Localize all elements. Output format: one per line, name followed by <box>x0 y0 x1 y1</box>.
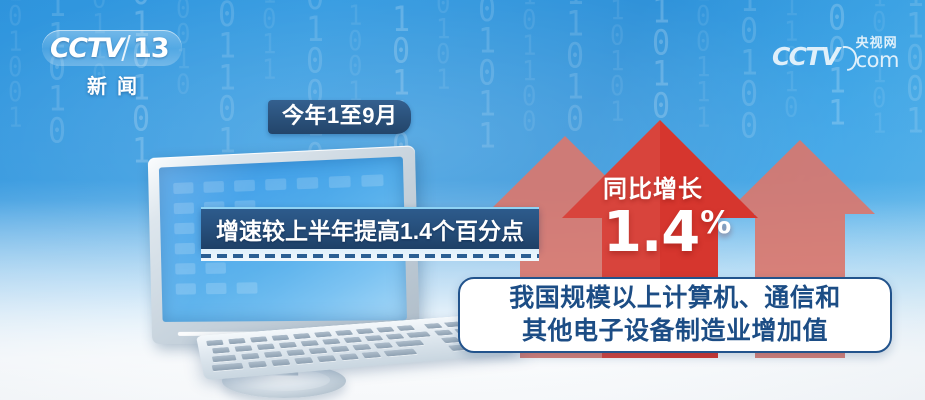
date-range-text: 今年1至9月 <box>282 104 397 128</box>
cctv13-logo-pill: CCTV 13 <box>42 30 182 66</box>
caption-box: 我国规模以上计算机、通信和 其他电子设备制造业增加值 <box>458 277 892 353</box>
cctv-wordmark: CCTV <box>42 33 123 64</box>
growth-value: 1.4 <box>603 206 699 261</box>
caption-line-2: 其他电子设备制造业增加值 <box>522 315 828 348</box>
watermark-domain: com <box>856 50 899 71</box>
headline-dashed-underline <box>201 249 539 261</box>
watermark-brand: CCTV <box>772 42 839 71</box>
growth-unit: % <box>700 208 731 239</box>
growth-figure: 同比增长 1.4 % <box>603 176 753 260</box>
channel-subtitle: 新闻 <box>42 70 182 99</box>
channel-number: 13 <box>133 33 169 64</box>
caption-line-1: 我国规模以上计算机、通信和 <box>509 282 841 315</box>
broadcast-graphic: 1 0 1 0 0 1 0 1 1 0 1 0 1 0 0 1 1 0 0 1 … <box>0 0 925 400</box>
headline-text: 增速较上半年提高1.4个百分点 <box>216 212 524 246</box>
cctv13-logo: CCTV 13 新闻 <box>42 30 182 92</box>
cctv-com-watermark: CCTV 央视网 com <box>772 36 899 71</box>
watermark-right-block: 央视网 com <box>856 36 899 71</box>
dash-strip <box>201 254 539 258</box>
date-range-banner: 今年1至9月 <box>268 100 411 134</box>
headline-banner: 增速较上半年提高1.4个百分点 <box>201 207 539 249</box>
growth-value-group: 1.4 % <box>603 206 753 261</box>
